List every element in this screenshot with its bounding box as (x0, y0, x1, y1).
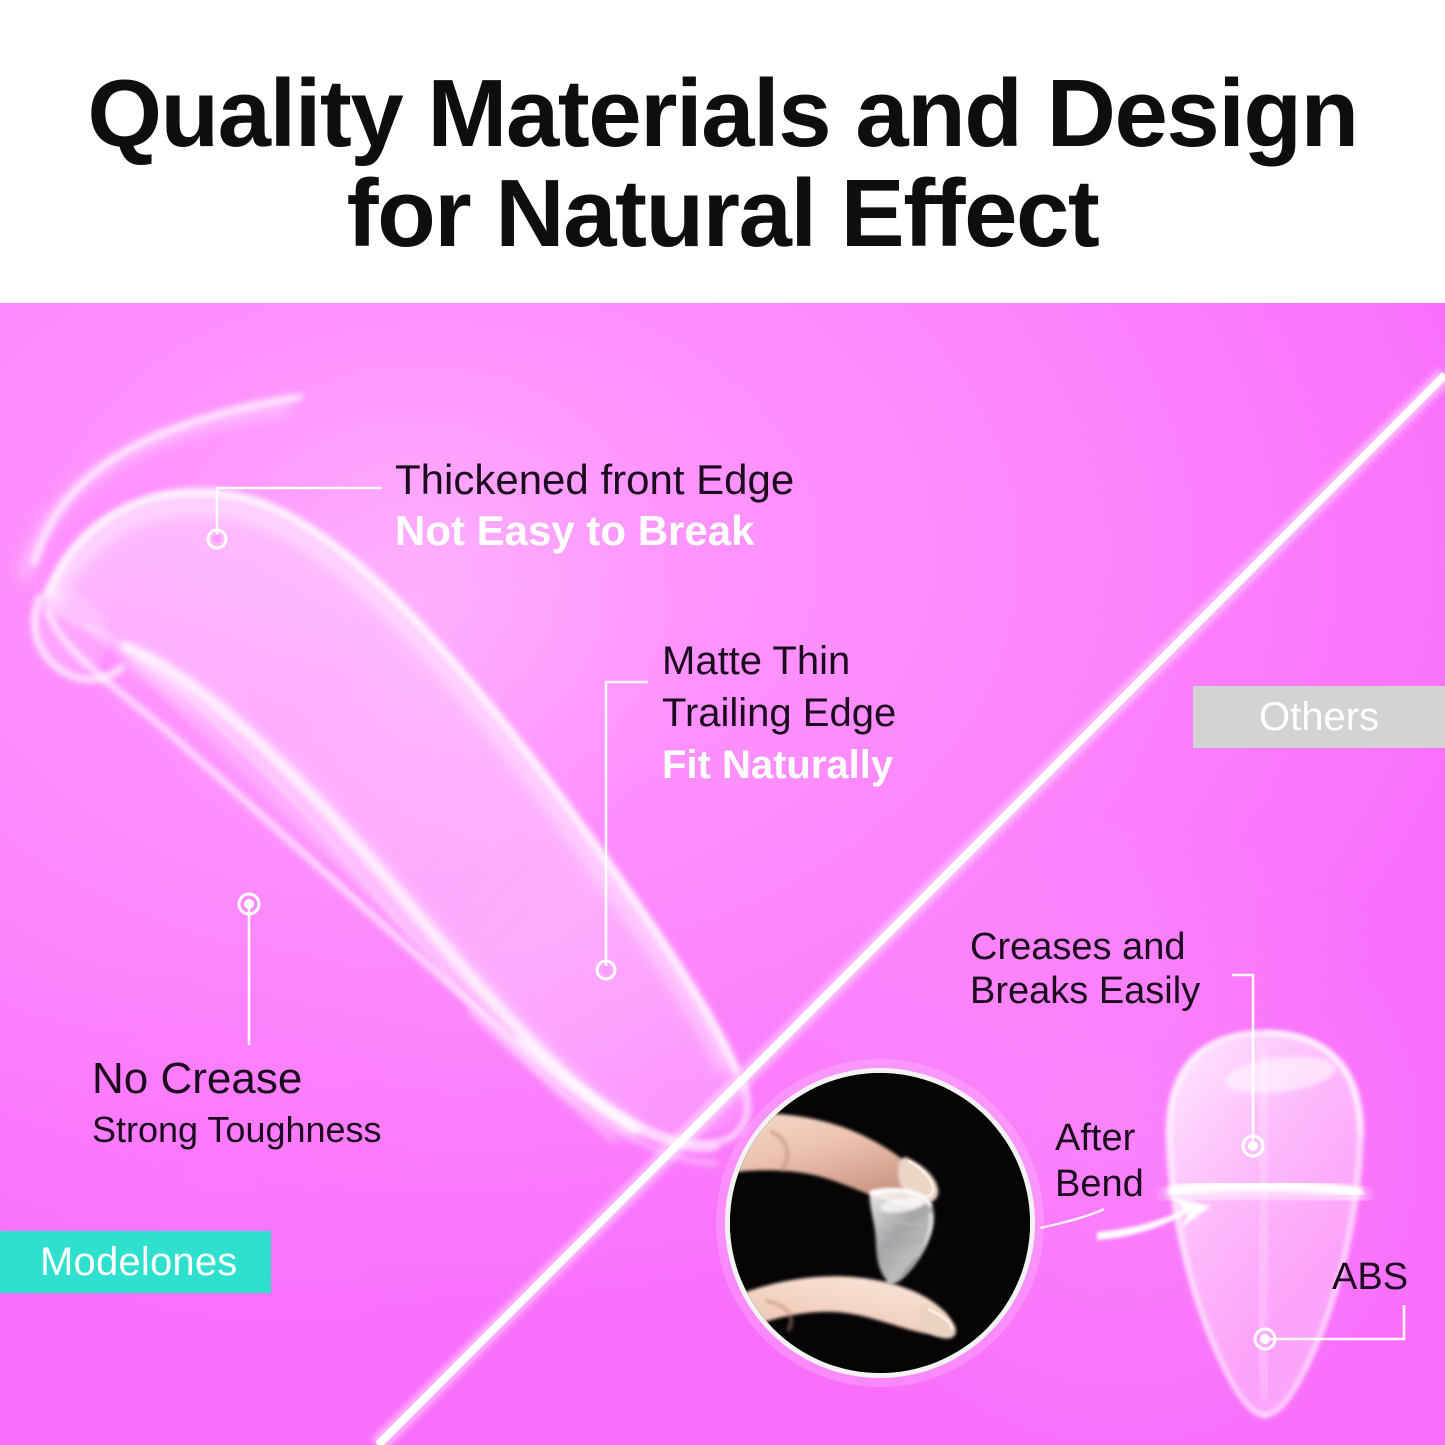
annotation-trailing-edge-line1: Matte Thin (662, 635, 896, 687)
page-title-line1: Quality Materials and Design (87, 64, 1357, 164)
annotation-dot-icon (208, 530, 226, 548)
annotation-trailing-edge-line2: Trailing Edge (662, 687, 896, 739)
leader-front-edge (217, 488, 382, 535)
header-banner: Quality Materials and Design for Natural… (0, 0, 1445, 303)
brand-badge-modelones-label: Modelones (40, 1240, 237, 1285)
annotation-front-edge-line1: Thickened front Edge (395, 455, 794, 505)
light-bloom-lower-left (0, 943, 500, 1423)
annotation-dot-core (244, 899, 254, 909)
brand-badge-others-label: Others (1259, 695, 1379, 740)
annotation-after-bend-line1: After (1055, 1115, 1144, 1161)
annotation-no-crease-line2: Strong Toughness (92, 1107, 382, 1153)
annotation-front-edge: Thickened front Edge Not Easy to Break (395, 455, 794, 557)
annotation-creases-breaks-line2: Breaks Easily (970, 969, 1200, 1013)
annotation-dot-core (1248, 1141, 1258, 1151)
leader-abs (1270, 1305, 1404, 1339)
bend-arrow-icon (1095, 1188, 1225, 1258)
leader-trailing-edge (606, 682, 648, 966)
annotation-creases-breaks-line1: Creases and (970, 925, 1200, 969)
annotation-trailing-edge-line3: Fit Naturally (662, 739, 896, 791)
abs-nail-tip-illustration (1150, 1023, 1380, 1423)
annotation-material-abs-label: ABS (1332, 1255, 1408, 1299)
annotation-dot-core (602, 966, 610, 974)
leader-creases (1232, 975, 1253, 1141)
infographic-page: Quality Materials and Design for Natural… (0, 0, 1445, 1445)
annotation-dot-icon (239, 894, 259, 914)
annotation-dot-icon (1255, 1329, 1275, 1349)
modelones-nail-tip-illustration (0, 363, 800, 1183)
annotation-after-bend: After Bend (1055, 1115, 1144, 1207)
annotation-trailing-edge: Matte Thin Trailing Edge Fit Naturally (662, 635, 896, 791)
annotation-front-edge-line2: Not Easy to Break (395, 505, 794, 557)
annotation-creases-breaks: Creases and Breaks Easily (970, 925, 1200, 1013)
annotation-dot-core (1260, 1334, 1270, 1344)
annotation-material-abs: ABS (1332, 1255, 1408, 1299)
annotation-after-bend-line2: Bend (1055, 1161, 1144, 1207)
annotation-dot-core (213, 535, 221, 543)
brand-badge-modelones: Modelones (0, 1231, 271, 1293)
page-title-line2: for Natural Effect (347, 164, 1099, 264)
comparison-stage: Thickened front Edge Not Easy to Break M… (0, 303, 1445, 1445)
pinching-fingers-photo (730, 1073, 1030, 1373)
brand-badge-others: Others (1193, 686, 1445, 748)
leader-photo-to-nail (1040, 1209, 1104, 1228)
annotation-no-crease-line1: No Crease (92, 1051, 382, 1107)
annotation-dot-icon (597, 961, 615, 979)
light-bloom-upper-left (90, 353, 730, 873)
annotation-dot-icon (1243, 1136, 1263, 1156)
annotation-no-crease: No Crease Strong Toughness (92, 1051, 382, 1153)
bend-demo-photo (725, 1068, 1035, 1378)
